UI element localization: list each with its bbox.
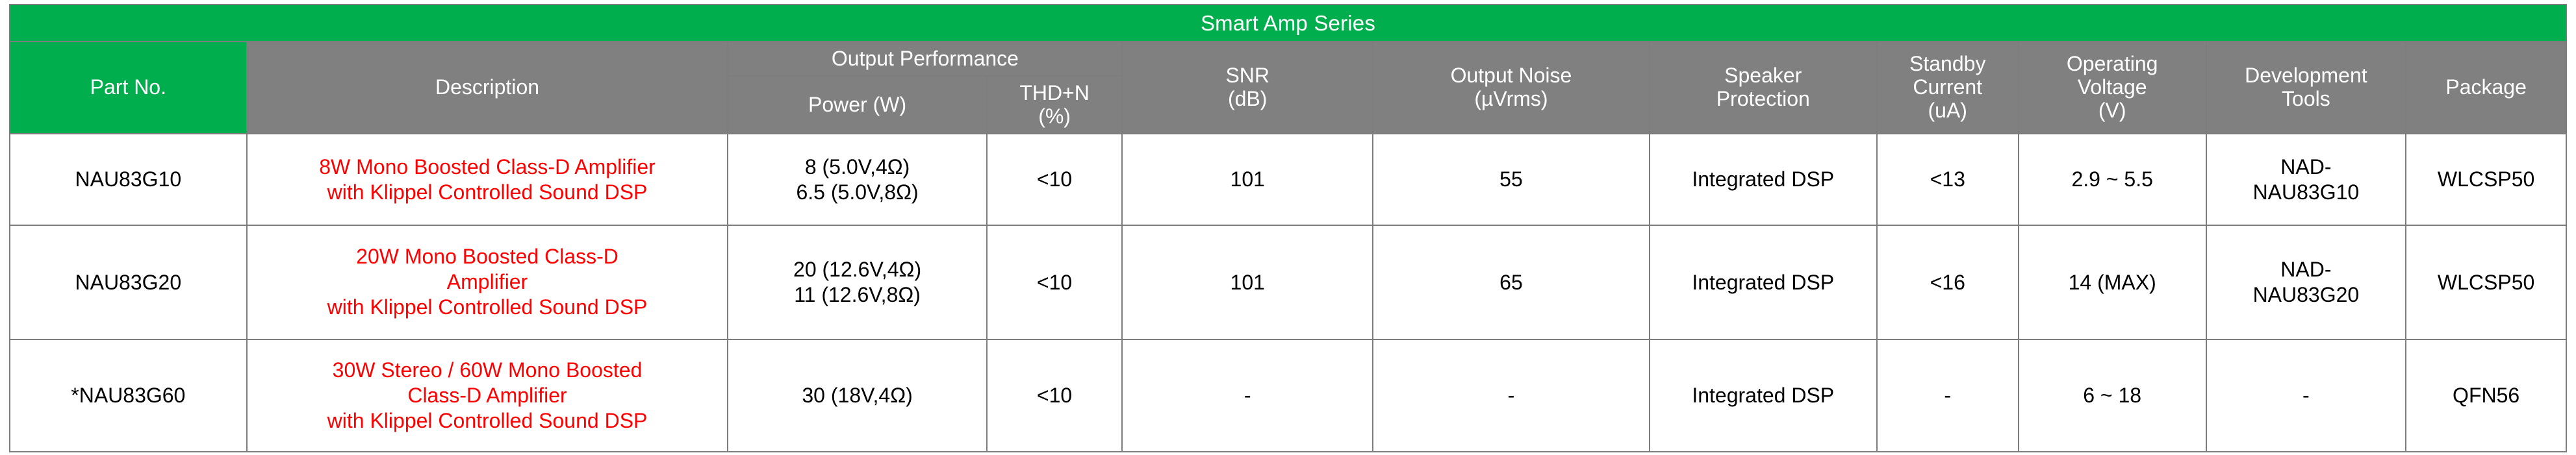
cell-output-noise: 55: [1373, 134, 1650, 225]
column-header-development-tools: Development Tools: [2206, 42, 2406, 134]
cell-description-line2: Amplifier: [447, 270, 528, 293]
cell-power-line1: 8 (5.0V,4Ω): [805, 155, 910, 178]
column-header-part-no: Part No.: [10, 42, 247, 134]
cell-package: QFN56: [2406, 339, 2566, 452]
cell-description-line2: with Klippel Controlled Sound DSP: [327, 180, 648, 204]
cell-output-noise: 65: [1373, 225, 1650, 339]
column-header-speaker-protection-line1: Speaker: [1724, 64, 1802, 87]
column-header-development-tools-line1: Development: [2245, 64, 2367, 87]
cell-power: 30 (18V,4Ω): [728, 339, 986, 452]
cell-power: 20 (12.6V,4Ω) 11 (12.6V,8Ω): [728, 225, 986, 339]
cell-power: 8 (5.0V,4Ω) 6.5 (5.0V,8Ω): [728, 134, 986, 225]
column-header-operating-voltage: Operating Voltage (V): [2019, 42, 2206, 134]
column-header-output-noise-line2: (µVrms): [1474, 87, 1548, 110]
cell-operating-voltage: 6 ~ 18: [2019, 339, 2206, 452]
cell-development-tools-line1: NAD-: [2280, 258, 2331, 281]
cell-thd-n: <10: [987, 225, 1123, 339]
cell-power-line2: 6.5 (5.0V,8Ω): [796, 180, 918, 204]
column-header-operating-voltage-line1: Operating: [2067, 52, 2158, 75]
table-row: NAU83G10 8W Mono Boosted Class-D Amplifi…: [10, 134, 2566, 225]
smart-amp-spec-table: Smart Amp Series Part No. Description Ou…: [9, 4, 2567, 452]
cell-development-tools-line1: NAD-: [2280, 155, 2331, 178]
cell-snr: 101: [1122, 134, 1373, 225]
cell-standby-current: -: [1877, 339, 2019, 452]
cell-power-line1: 20 (12.6V,4Ω): [793, 258, 921, 281]
column-header-output-noise: Output Noise (µVrms): [1373, 42, 1650, 134]
cell-operating-voltage: 2.9 ~ 5.5: [2019, 134, 2206, 225]
cell-description: 20W Mono Boosted Class-D Amplifier with …: [247, 225, 728, 339]
column-header-operating-voltage-line3: (V): [2098, 99, 2126, 122]
table-title-row: Smart Amp Series: [10, 5, 2566, 42]
cell-thd-n: <10: [987, 339, 1123, 452]
table-title: Smart Amp Series: [10, 5, 2566, 42]
cell-development-tools-line2: NAU83G20: [2253, 283, 2360, 306]
cell-development-tools: NAD- NAU83G10: [2206, 134, 2406, 225]
cell-description-line3: with Klippel Controlled Sound DSP: [327, 295, 648, 319]
cell-development-tools: NAD- NAU83G20: [2206, 225, 2406, 339]
table-header-group-row: Part No. Description Output Performance …: [10, 42, 2566, 76]
column-header-snr-line2: (dB): [1228, 87, 1267, 110]
cell-description-line1: 30W Stereo / 60W Mono Boosted: [333, 358, 643, 382]
cell-description-line1: 8W Mono Boosted Class-D Amplifier: [319, 155, 656, 178]
cell-speaker-protection: Integrated DSP: [1650, 134, 1877, 225]
column-header-speaker-protection: Speaker Protection: [1650, 42, 1877, 134]
column-header-thd-n-line1: THD+N: [1019, 81, 1090, 105]
cell-snr: -: [1122, 339, 1373, 452]
column-header-standby-current-line3: (uA): [1928, 99, 1967, 122]
column-header-standby-current: Standby Current (uA): [1877, 42, 2019, 134]
cell-development-tools: -: [2206, 339, 2406, 452]
cell-output-noise: -: [1373, 339, 1650, 452]
cell-part-no: NAU83G20: [10, 225, 247, 339]
column-header-speaker-protection-line2: Protection: [1716, 87, 1810, 110]
column-header-power: Power (W): [728, 76, 986, 134]
cell-thd-n: <10: [987, 134, 1123, 225]
cell-standby-current: <13: [1877, 134, 2019, 225]
cell-description-line1: 20W Mono Boosted Class-D: [356, 245, 618, 268]
column-header-package: Package: [2406, 42, 2566, 134]
cell-package: WLCSP50: [2406, 225, 2566, 339]
column-header-thd-n: THD+N (%): [987, 76, 1123, 134]
cell-speaker-protection: Integrated DSP: [1650, 339, 1877, 452]
cell-part-no: *NAU83G60: [10, 339, 247, 452]
cell-snr: 101: [1122, 225, 1373, 339]
column-header-operating-voltage-line2: Voltage: [2078, 75, 2147, 99]
column-header-development-tools-line2: Tools: [2282, 87, 2330, 110]
column-header-description: Description: [247, 42, 728, 134]
cell-speaker-protection: Integrated DSP: [1650, 225, 1877, 339]
cell-description: 8W Mono Boosted Class-D Amplifier with K…: [247, 134, 728, 225]
column-header-output-performance: Output Performance: [728, 42, 1122, 76]
column-header-snr-line1: SNR: [1225, 64, 1269, 87]
table-row: NAU83G20 20W Mono Boosted Class-D Amplif…: [10, 225, 2566, 339]
column-header-thd-n-line2: (%): [1038, 105, 1071, 128]
column-header-standby-current-line2: Current: [1913, 75, 1982, 99]
column-header-output-noise-line1: Output Noise: [1451, 64, 1572, 87]
cell-standby-current: <16: [1877, 225, 2019, 339]
cell-operating-voltage: 14 (MAX): [2019, 225, 2206, 339]
cell-power-line2: 11 (12.6V,8Ω): [794, 283, 921, 306]
column-header-standby-current-line1: Standby: [1909, 52, 1985, 75]
cell-description-line3: with Klippel Controlled Sound DSP: [327, 409, 648, 432]
table-row: *NAU83G60 30W Stereo / 60W Mono Boosted …: [10, 339, 2566, 452]
cell-part-no: NAU83G10: [10, 134, 247, 225]
cell-development-tools-line2: NAU83G10: [2253, 180, 2360, 204]
cell-package: WLCSP50: [2406, 134, 2566, 225]
cell-description-line2: Class-D Amplifier: [407, 384, 567, 407]
spec-table-container: Smart Amp Series Part No. Description Ou…: [0, 0, 2576, 455]
column-header-snr: SNR (dB): [1122, 42, 1373, 134]
cell-description: 30W Stereo / 60W Mono Boosted Class-D Am…: [247, 339, 728, 452]
